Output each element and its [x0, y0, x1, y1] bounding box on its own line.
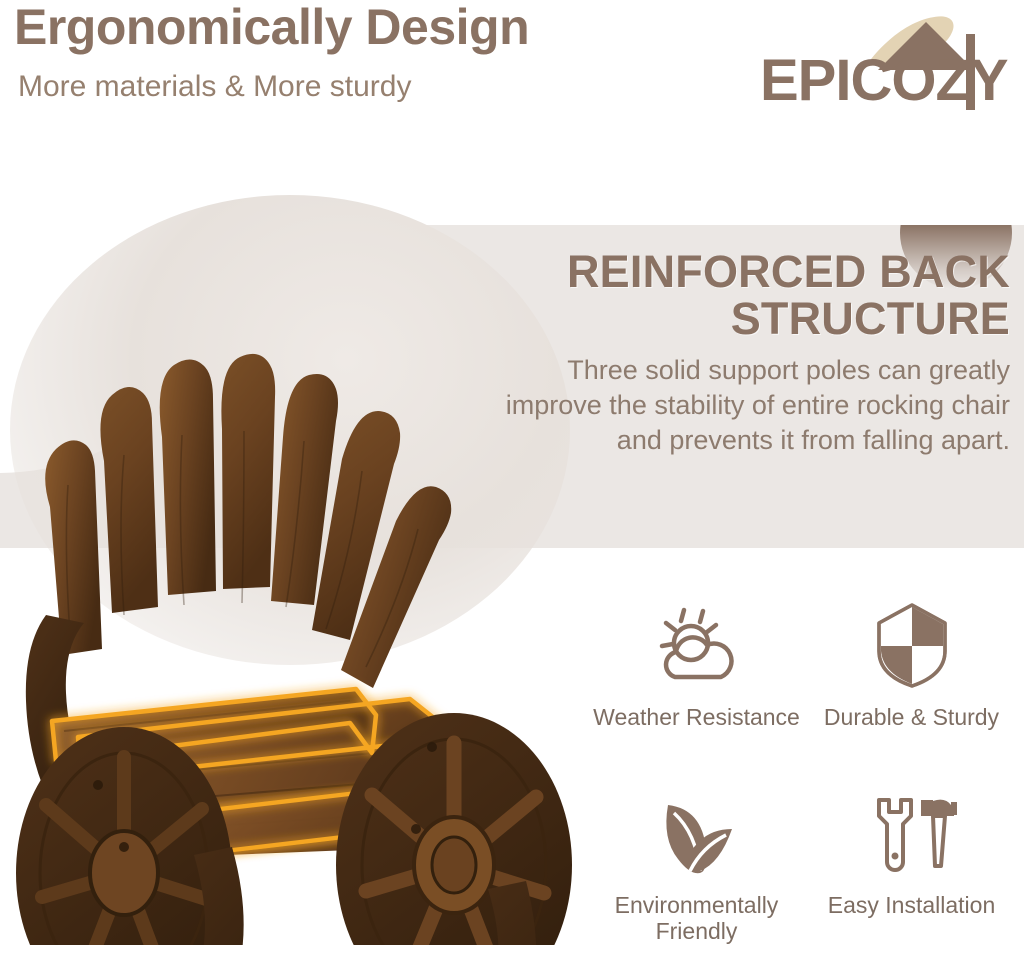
page-subtitle: More materials & More sturdy: [18, 70, 411, 104]
feature-item: Easy Installation: [807, 773, 1016, 953]
product-infographic: Ergonomically Design More materials & Mo…: [0, 0, 1024, 955]
brand-name: EPICOZY: [760, 48, 1008, 112]
feature-item: Weather Resistance: [592, 585, 801, 765]
brand-logo: EPICOZY: [760, 8, 1012, 112]
feature-label: Weather Resistance: [593, 705, 800, 731]
chair-back-slats: [45, 354, 451, 688]
feature-item: Environmentally Friendly: [592, 773, 801, 953]
wrench-hole-icon: [891, 853, 898, 860]
sun-cloud-icon: [649, 597, 745, 693]
page-title: Ergonomically Design: [14, 0, 529, 57]
product-image: [6, 285, 616, 945]
feature-label: Environmentally Friendly: [615, 893, 779, 945]
feature-item: Durable & Sturdy: [807, 585, 1016, 765]
hammer-icon: [921, 800, 957, 866]
feature-grid: Weather Resistance Durable & Sturdy: [592, 585, 1016, 953]
tools-icon: [864, 785, 960, 881]
shield-icon: [864, 597, 960, 693]
leaves-icon: [649, 785, 745, 881]
feature-label: Durable & Sturdy: [824, 705, 999, 731]
feature-label: Easy Installation: [828, 893, 995, 919]
